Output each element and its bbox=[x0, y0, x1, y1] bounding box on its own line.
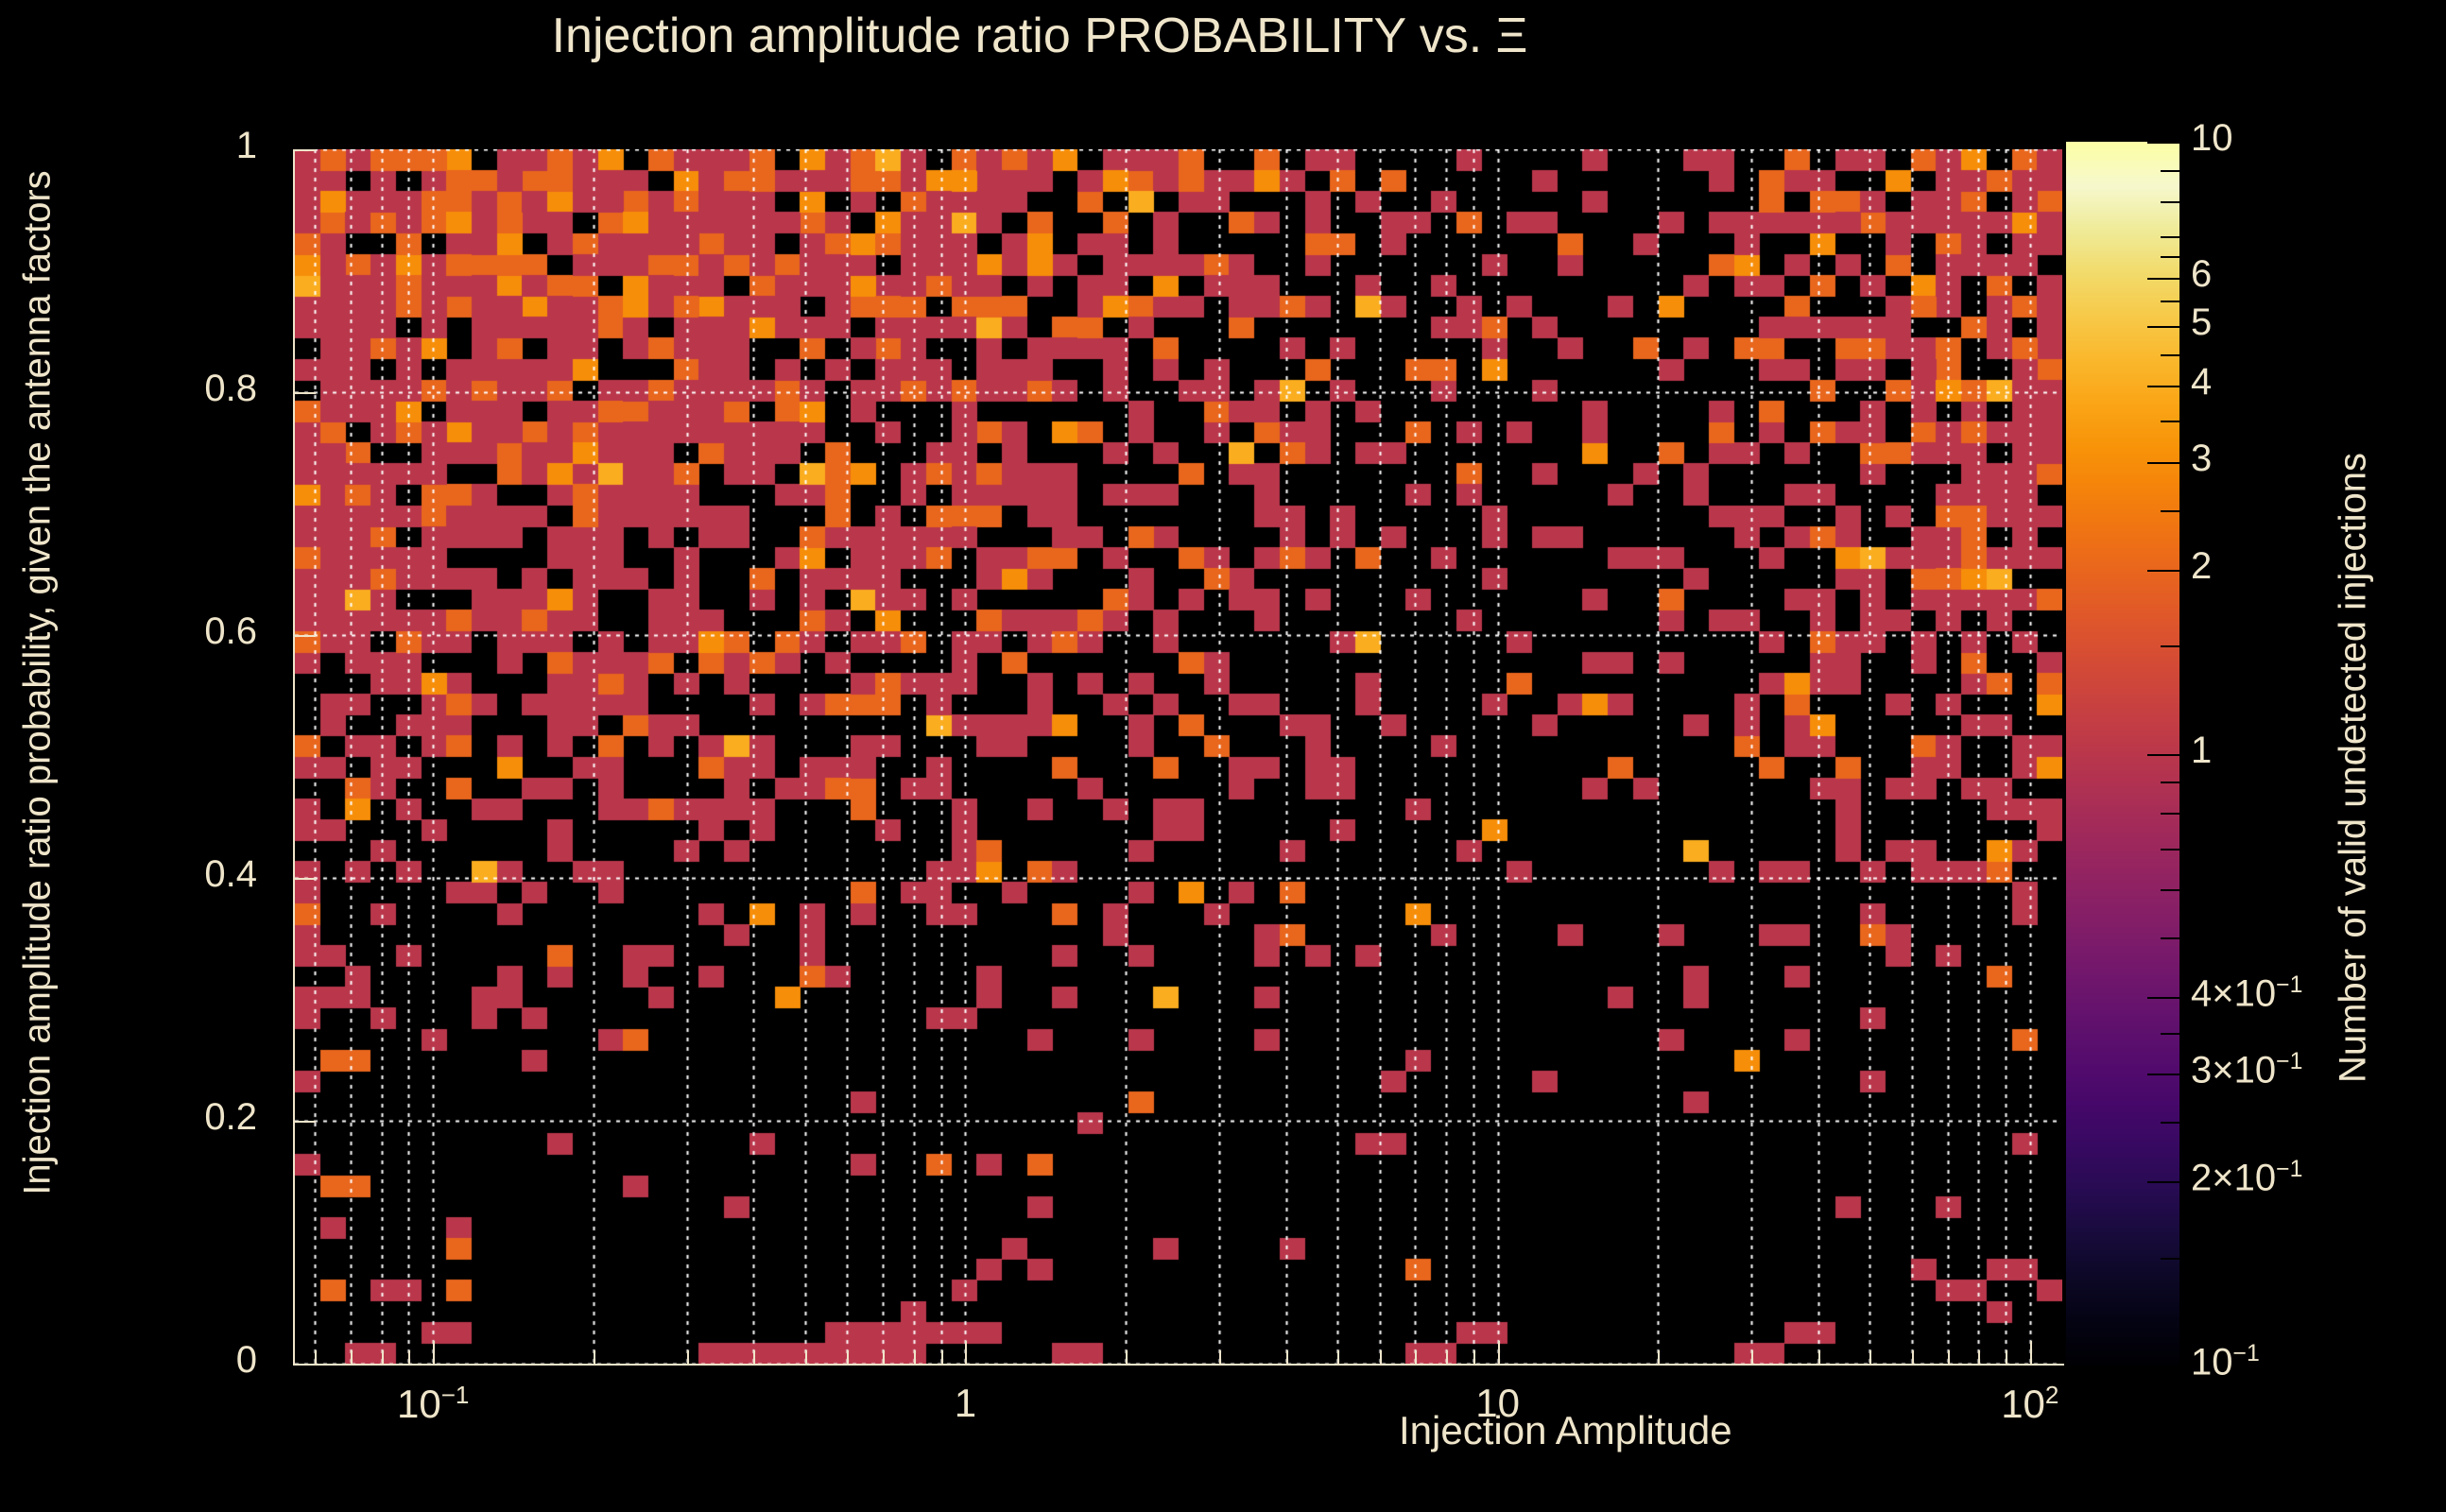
y-tick-label: 0.6 bbox=[144, 610, 257, 653]
x-tick-label: 102 bbox=[1936, 1381, 2125, 1427]
x-minor-tick-mark bbox=[2006, 1350, 2007, 1364]
chart-root: Injection amplitude ratio PROBABILITY vs… bbox=[0, 0, 2446, 1512]
colorbar-minor-tick-mark bbox=[2161, 813, 2179, 815]
colorbar bbox=[2066, 142, 2179, 1366]
colorbar-tick-label: 1 bbox=[2191, 730, 2212, 772]
colorbar-minor-tick-mark bbox=[2161, 256, 2179, 258]
colorbar-minor-tick-mark bbox=[2161, 170, 2179, 172]
x-minor-tick-mark bbox=[883, 1350, 885, 1364]
x-minor-tick-mark bbox=[1869, 1350, 1871, 1364]
colorbar-tick-label: 2 bbox=[2191, 545, 2212, 588]
x-minor-tick-mark bbox=[1751, 1350, 1753, 1364]
x-minor-tick-mark bbox=[382, 1350, 384, 1364]
x-minor-tick-mark bbox=[1446, 1350, 1448, 1364]
colorbar-minor-tick-mark bbox=[2161, 849, 2179, 850]
x-minor-tick-mark bbox=[1818, 1350, 1820, 1364]
colorbar-tick-label: 3×10−1 bbox=[2191, 1049, 2302, 1091]
y-tick-mark bbox=[295, 878, 316, 880]
colorbar-minor-tick-mark bbox=[2161, 301, 2179, 302]
x-minor-tick-mark bbox=[1912, 1350, 1914, 1364]
y-axis-title: Injection amplitude ratio probability, g… bbox=[17, 22, 60, 1345]
x-minor-tick-mark bbox=[1380, 1350, 1382, 1364]
colorbar-tick-label: 4 bbox=[2191, 361, 2212, 404]
x-tick-label: 1 bbox=[870, 1381, 1059, 1426]
x-minor-tick-mark bbox=[1658, 1350, 1660, 1364]
colorbar-tick-mark bbox=[2147, 462, 2179, 464]
x-tick-label: 10−1 bbox=[338, 1381, 527, 1427]
colorbar-minor-tick-mark bbox=[2161, 1122, 2179, 1124]
y-tick-mark bbox=[295, 1121, 316, 1123]
colorbar-tick-label: 10 bbox=[2191, 117, 2233, 160]
colorbar-minor-tick-mark bbox=[2161, 354, 2179, 356]
colorbar-tick-mark bbox=[2147, 570, 2179, 572]
y-tick-label: 0.2 bbox=[144, 1096, 257, 1139]
x-minor-tick-mark bbox=[1473, 1350, 1475, 1364]
colorbar-minor-tick-mark bbox=[2161, 1258, 2179, 1260]
colorbar-tick-label: 10−1 bbox=[2191, 1341, 2260, 1383]
x-axis-spine bbox=[293, 1364, 2064, 1366]
colorbar-tick-label: 3 bbox=[2191, 438, 2212, 480]
colorbar-minor-tick-mark bbox=[2161, 510, 2179, 512]
y-tick-mark bbox=[295, 635, 316, 637]
x-minor-tick-mark bbox=[1415, 1350, 1417, 1364]
x-minor-tick-mark bbox=[594, 1350, 595, 1364]
y-tick-label: 0.4 bbox=[144, 853, 257, 896]
colorbar-minor-tick-mark bbox=[2161, 421, 2179, 422]
colorbar-minor-tick-mark bbox=[2161, 645, 2179, 647]
colorbar-tick-mark bbox=[2147, 754, 2179, 756]
x-minor-tick-mark bbox=[805, 1350, 807, 1364]
x-minor-tick-mark bbox=[408, 1350, 410, 1364]
colorbar-tick-label: 4×10−1 bbox=[2191, 972, 2302, 1015]
page-title: Injection amplitude ratio PROBABILITY vs… bbox=[0, 8, 2079, 64]
x-tick-mark bbox=[2030, 1341, 2032, 1364]
y-tick-mark bbox=[295, 392, 316, 394]
x-minor-tick-mark bbox=[847, 1350, 849, 1364]
x-tick-mark bbox=[1498, 1341, 1500, 1364]
colorbar-tick-label: 2×10−1 bbox=[2191, 1157, 2302, 1199]
colorbar-minor-tick-mark bbox=[2161, 889, 2179, 891]
y-tick-label: 1 bbox=[144, 125, 257, 167]
x-minor-tick-mark bbox=[1126, 1350, 1128, 1364]
colorbar-tick-label: 6 bbox=[2191, 253, 2212, 296]
colorbar-minor-tick-mark bbox=[2161, 236, 2179, 238]
heatmap-canvas bbox=[295, 149, 2062, 1364]
x-minor-tick-mark bbox=[315, 1350, 317, 1364]
colorbar-tick-label: 5 bbox=[2191, 301, 2212, 344]
x-minor-tick-mark bbox=[753, 1350, 755, 1364]
x-minor-tick-mark bbox=[914, 1350, 916, 1364]
colorbar-minor-tick-mark bbox=[2161, 937, 2179, 939]
colorbar-minor-tick-mark bbox=[2161, 1033, 2179, 1035]
x-minor-tick-mark bbox=[1337, 1350, 1339, 1364]
x-minor-tick-mark bbox=[1948, 1350, 1950, 1364]
colorbar-tick-mark bbox=[2147, 1181, 2179, 1183]
x-minor-tick-mark bbox=[1219, 1350, 1221, 1364]
colorbar-tick-mark bbox=[2147, 1366, 2179, 1367]
x-axis-title: Injection Amplitude bbox=[1399, 1408, 1732, 1453]
y-tick-label: 0.8 bbox=[144, 368, 257, 410]
x-minor-tick-mark bbox=[1286, 1350, 1288, 1364]
colorbar-title: Number of valid undetected injections bbox=[2333, 107, 2375, 1430]
colorbar-tick-mark bbox=[2147, 997, 2179, 999]
x-minor-tick-mark bbox=[687, 1350, 689, 1364]
colorbar-tick-mark bbox=[2147, 386, 2179, 387]
y-tick-mark bbox=[295, 149, 316, 151]
y-tick-label: 0 bbox=[144, 1339, 257, 1382]
colorbar-tick-mark bbox=[2147, 1074, 2179, 1075]
colorbar-minor-tick-mark bbox=[2161, 201, 2179, 203]
colorbar-tick-mark bbox=[2147, 326, 2179, 328]
x-minor-tick-mark bbox=[351, 1350, 353, 1364]
x-tick-mark bbox=[965, 1341, 967, 1364]
x-minor-tick-mark bbox=[1978, 1350, 1980, 1364]
y-axis-spine bbox=[293, 149, 295, 1366]
colorbar-minor-tick-mark bbox=[2161, 782, 2179, 783]
x-minor-tick-mark bbox=[941, 1350, 943, 1364]
colorbar-tick-mark bbox=[2147, 142, 2179, 144]
x-tick-mark bbox=[433, 1341, 435, 1364]
heatmap-plot-area bbox=[295, 149, 2062, 1364]
colorbar-tick-mark bbox=[2147, 278, 2179, 280]
y-tick-mark bbox=[295, 1364, 316, 1366]
